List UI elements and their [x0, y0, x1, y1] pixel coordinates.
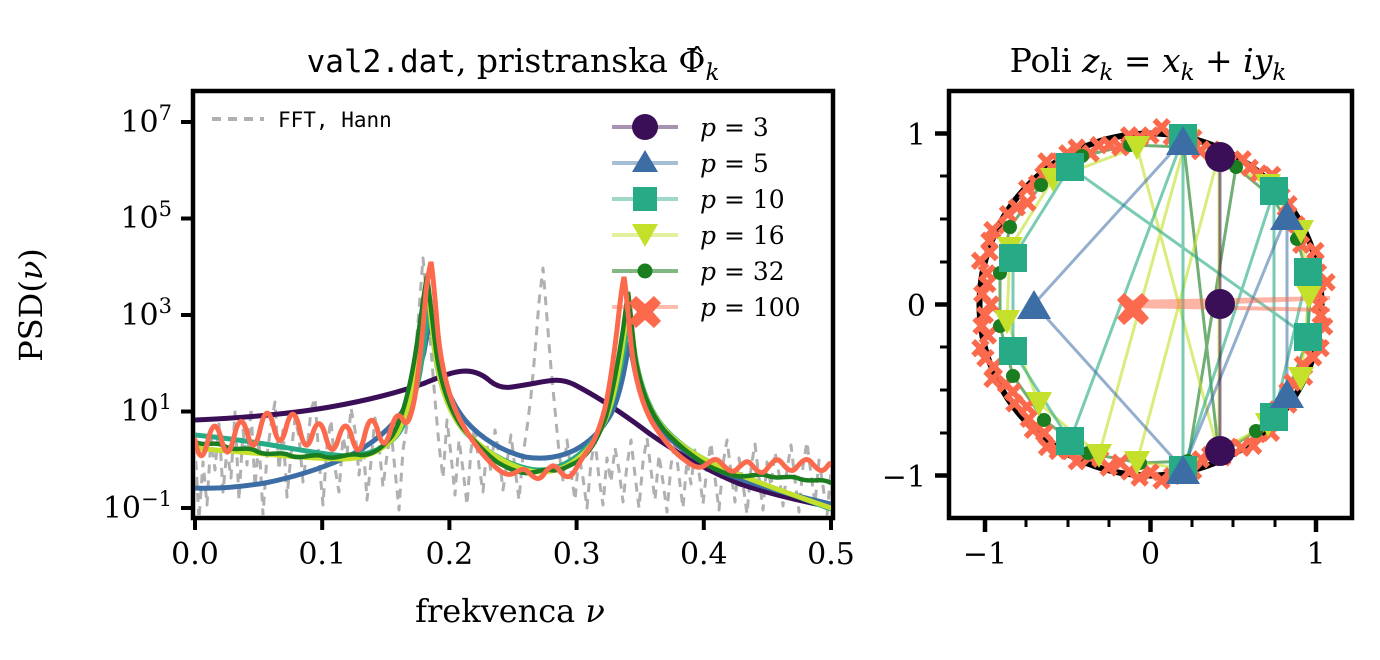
psd-title-subscript: k: [705, 60, 719, 86]
psd-xtick-5: 0.5: [807, 537, 855, 572]
psd-xtick-3: 0.3: [553, 537, 601, 572]
psd-ylabel: PSD(ν): [12, 248, 50, 362]
legend-label-p16: p = 16: [700, 221, 785, 250]
figure-canvas: val2.dat, pristranska Φ̂k: [0, 0, 1380, 660]
psd-xtick-4: 0.4: [680, 537, 728, 572]
legend-label-p100: p = 100: [700, 293, 801, 322]
legend-label-p10: p = 10: [700, 185, 785, 214]
poles-panel-title: Poli zk = xk + iyk: [1010, 41, 1287, 86]
poles-xtick-0: −1: [963, 537, 1007, 572]
legend-label-fft: FFT, Hann: [278, 108, 392, 132]
legend-label-p32: p = 32: [700, 257, 785, 286]
legend-label-p3: p = 3: [700, 113, 769, 142]
psd-title-filename: val2.dat: [307, 44, 456, 80]
psd-title-symbol: Φ̂: [678, 41, 705, 80]
poles-xtick-2: 1: [1306, 537, 1325, 572]
psd-xlabel: frekvenca ν: [415, 592, 605, 630]
legend-marker-square-icon-p10: [633, 187, 657, 211]
psd-xtick-0: 0.0: [171, 537, 219, 572]
legend-marker-point-icon-p32: [638, 264, 653, 279]
legend-label-p5: p = 5: [700, 149, 769, 178]
psd-xtick-1: 0.1: [298, 537, 346, 572]
poles-ytick-1: 0: [907, 289, 926, 324]
poles-xtick-1: 0: [1141, 537, 1160, 572]
legend-marker-circle-icon-p3: [632, 114, 658, 140]
poles-title-prefix: Poli: [1010, 41, 1082, 80]
psd-xtick-2: 0.2: [426, 537, 474, 572]
psd-panel-title: val2.dat, pristranska Φ̂k: [307, 41, 720, 86]
poles-ytick-0: −1: [882, 460, 926, 495]
psd-title-text: , pristranska: [456, 41, 678, 80]
poles-ytick-2: 1: [907, 118, 926, 153]
figure-svg: val2.dat, pristranska Φ̂k: [0, 0, 1380, 660]
